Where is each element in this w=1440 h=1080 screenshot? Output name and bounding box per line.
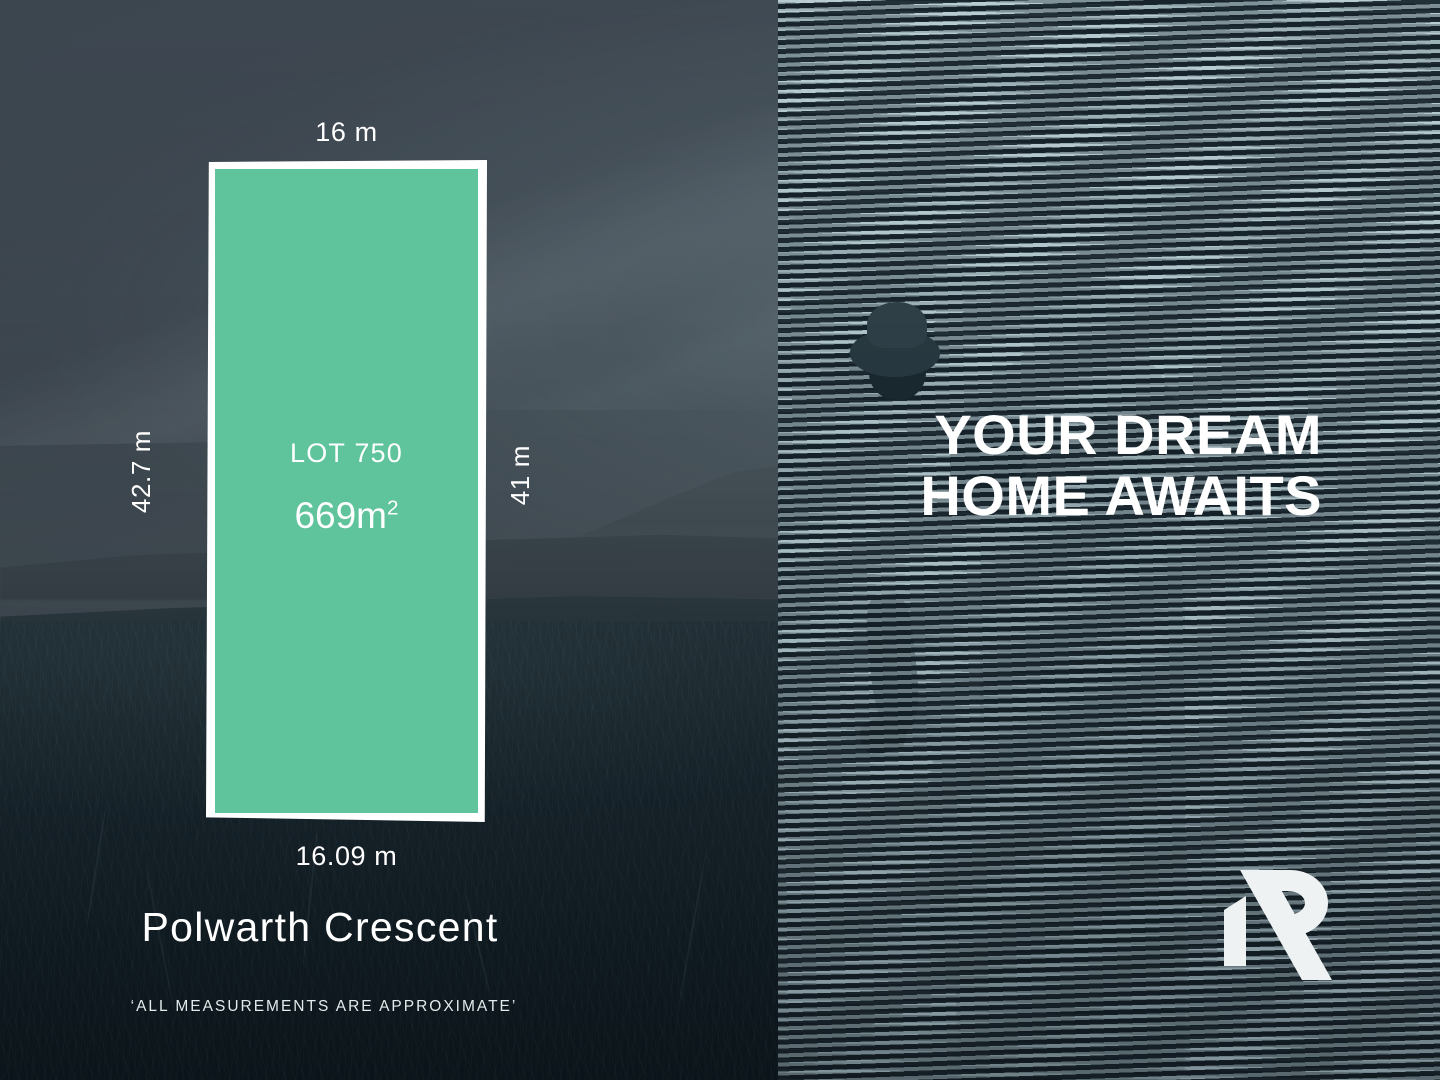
child-hat-crown bbox=[867, 302, 927, 347]
brand-logo bbox=[1224, 870, 1332, 980]
dimension-bottom-label: 16.09 m bbox=[206, 841, 487, 872]
street-name-label: Polwarth Crescent bbox=[0, 904, 640, 951]
hedgerow-shrub bbox=[641, 607, 675, 622]
r-monogram-icon bbox=[1224, 870, 1332, 980]
lot-diagram: 16 m 42.7 m 41 m 16.09 m LOT 750 669m2 P… bbox=[0, 0, 640, 1080]
measurements-disclaimer: ‘ALL MEASUREMENTS ARE APPROXIMATE’ bbox=[0, 998, 648, 1016]
lot-boundary-rectangle bbox=[206, 160, 487, 822]
dimension-left-label: 42.7 m bbox=[126, 430, 157, 513]
grass-blade bbox=[677, 853, 707, 1011]
family-silhouette bbox=[778, 0, 1440, 1080]
dimension-right-label: 41 m bbox=[505, 445, 536, 505]
headline: YOUR DREAM HOME AWAITS bbox=[920, 404, 1322, 526]
headline-line-2: HOME AWAITS bbox=[920, 465, 1322, 526]
dimension-top-label: 16 m bbox=[206, 117, 487, 148]
child-striped-shirt bbox=[778, 686, 871, 913]
headline-line-1: YOUR DREAM bbox=[920, 404, 1322, 465]
lot-fill-area bbox=[215, 169, 478, 813]
marketing-banner: 16 m 42.7 m 41 m 16.09 m LOT 750 669m2 P… bbox=[0, 0, 1440, 1080]
